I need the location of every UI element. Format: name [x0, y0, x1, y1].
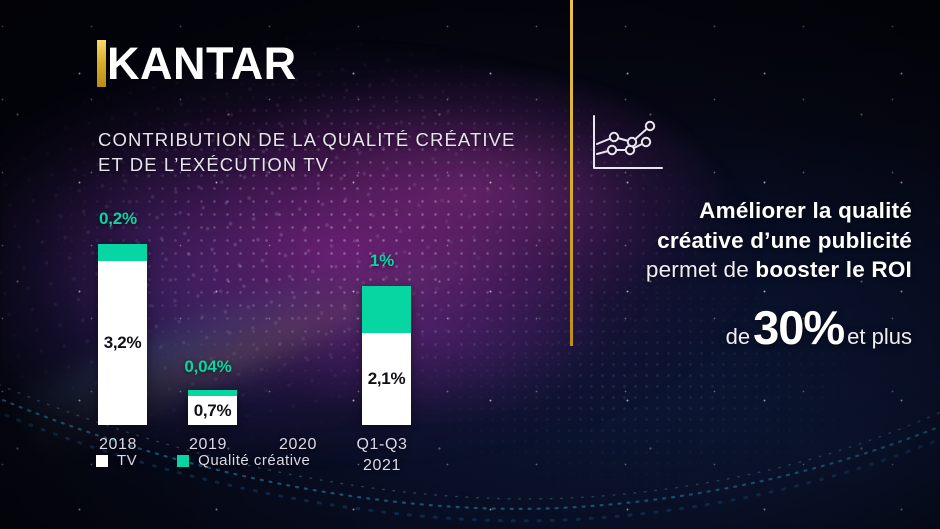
- insight-claim: Améliorer la qualité créative d’une publ…: [592, 196, 912, 285]
- vertical-divider: [570, 0, 573, 346]
- creative-value-label-2019: 0,04%: [178, 357, 238, 377]
- tv-value-label-2021: 2,1%: [368, 369, 406, 389]
- x-axis-label-2018-line1: 2018: [99, 436, 137, 453]
- claim-line-3: permet de booster le ROI: [592, 255, 912, 285]
- slide-canvas: KANTAR CONTRIBUTION DE LA QUALITÉ CRÉATI…: [0, 0, 940, 529]
- tv-value-label-2018: 3,2%: [104, 333, 142, 353]
- bar-group-2019: 0,04% 0,7% 2019: [178, 185, 238, 425]
- claim-line-3-light: permet de: [646, 257, 749, 282]
- legend-item-tv[interactable]: TV: [96, 452, 137, 469]
- legend-swatch-tv-icon: [96, 455, 108, 467]
- bar-chart: 0,2% 3,2% 2018 0,04% 0,7%: [88, 185, 458, 425]
- stat-prefix: de: [726, 324, 750, 349]
- legend-label-creative: Qualité créative: [198, 452, 310, 469]
- bar-group-2018: 0,2% 3,2% 2018: [88, 185, 148, 425]
- x-axis-label-q1q3-2021: Q1-Q3 2021: [340, 434, 424, 476]
- tv-value-label-2019: 0,7%: [194, 401, 232, 421]
- x-axis-label-2020-line1: 2020: [279, 436, 317, 453]
- kantar-logo: KANTAR: [97, 40, 297, 92]
- chart-title: CONTRIBUTION DE LA QUALITÉ CRÉATIVE ET D…: [98, 127, 528, 177]
- stat-suffix: et plus: [847, 324, 912, 349]
- legend-label-tv: TV: [117, 452, 137, 469]
- x-axis-label-2021-line2: 2021: [363, 457, 401, 474]
- insight-stat: de30%et plus: [592, 300, 912, 355]
- legend-item-creative[interactable]: Qualité créative: [177, 452, 310, 469]
- x-axis-label-2021-line1: Q1-Q3: [356, 436, 407, 453]
- logo-wordmark: KANTAR: [107, 40, 297, 87]
- legend-swatch-creative-icon: [177, 455, 189, 467]
- claim-line-3-bold: booster le ROI: [755, 257, 912, 282]
- bar-segment-tv-2019: 0,7%: [188, 396, 237, 425]
- bar-stack-q1q3-2021[interactable]: 2,1%: [362, 286, 411, 425]
- chart-legend: TV Qualité créative: [96, 452, 310, 469]
- creative-value-label-2021: 1%: [352, 251, 412, 271]
- claim-line-1: Améliorer la qualité: [592, 196, 912, 226]
- bar-group-2020: 2020: [268, 185, 328, 425]
- chart-title-line-1: CONTRIBUTION DE LA QUALITÉ CRÉATIVE: [98, 127, 528, 152]
- bar-segment-creative-2021: [362, 286, 411, 333]
- chart-title-line-2: ET DE L’EXÉCUTION TV: [98, 152, 528, 177]
- bar-segment-creative-2018: [98, 244, 147, 261]
- slide-content: KANTAR CONTRIBUTION DE LA QUALITÉ CRÉATI…: [0, 0, 940, 529]
- bar-group-q1q3-2021: 1% 2,1% Q1-Q3 2021: [352, 185, 412, 425]
- line-chart-icon: [588, 112, 666, 179]
- bar-stack-2019[interactable]: 0,7%: [188, 390, 237, 425]
- x-axis-label-2019-line1: 2019: [189, 436, 227, 453]
- claim-line-2: créative d’une publicité: [592, 226, 912, 256]
- bar-segment-tv-2021: 2,1%: [362, 333, 411, 425]
- bar-stack-2018[interactable]: 3,2%: [98, 244, 147, 425]
- stat-value: 30%: [753, 301, 844, 354]
- logo-accent-bar: [97, 40, 106, 87]
- bar-segment-tv-2018: 3,2%: [98, 261, 147, 425]
- creative-value-label-2018: 0,2%: [88, 209, 148, 229]
